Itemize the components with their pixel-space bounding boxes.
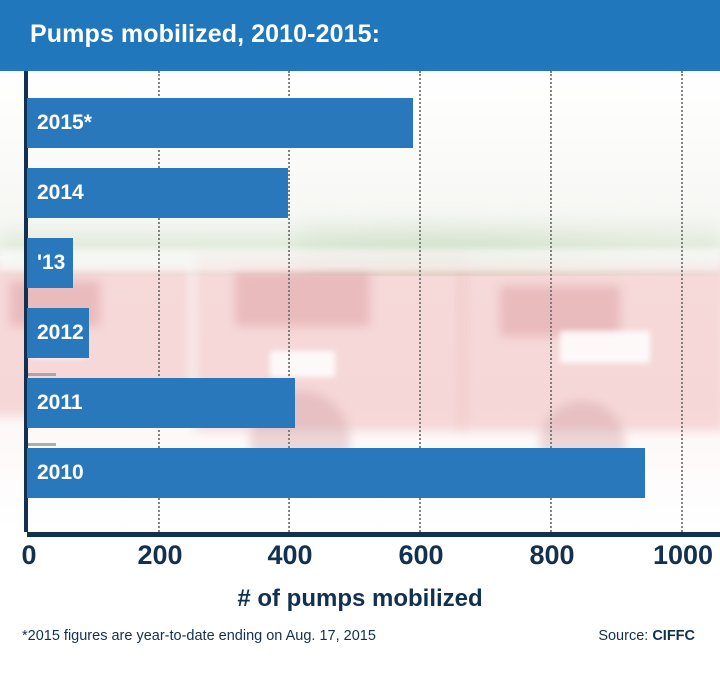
x-tick-label-200: 200 <box>137 540 182 571</box>
footnote-text: *2015 figures are year-to-date ending on… <box>22 628 376 644</box>
x-tick-label-800: 800 <box>529 540 574 571</box>
bar-label-2013: '13 <box>37 238 65 288</box>
source-label: Source: <box>598 628 652 644</box>
bar-series: 2015* 2014 '13 2012 2011 2010 <box>0 71 720 532</box>
bar-label-2012: 2012 <box>37 308 84 358</box>
page-title: Pumps mobilized, 2010-2015: <box>30 20 380 49</box>
x-tick-label-0: 0 <box>21 540 36 571</box>
chart-figure: Pumps mobilized, 2010-2015: <box>0 0 720 700</box>
bar-label-2014: 2014 <box>37 168 84 218</box>
chart-header-band: Pumps mobilized, 2010-2015: <box>0 0 720 71</box>
bar-label-2010: 2010 <box>37 448 84 498</box>
bar-2010[interactable] <box>27 448 645 498</box>
x-axis-title: # of pumps mobilized <box>0 585 720 613</box>
x-tick-label-400: 400 <box>267 540 312 571</box>
source-credit: Source: CIFFC <box>598 628 695 644</box>
plot-area: 2015* 2014 '13 2012 2011 2010 <box>0 71 720 532</box>
minor-tick-mark-upper <box>28 373 56 376</box>
x-tick-label-600: 600 <box>398 540 443 571</box>
x-tick-label-1000: 1000 <box>653 540 713 571</box>
bar-label-2011: 2011 <box>37 378 83 428</box>
x-axis-spine <box>27 532 720 537</box>
minor-tick-mark-lower <box>28 443 56 446</box>
bar-label-2015: 2015* <box>37 98 92 148</box>
source-name: CIFFC <box>652 628 695 644</box>
